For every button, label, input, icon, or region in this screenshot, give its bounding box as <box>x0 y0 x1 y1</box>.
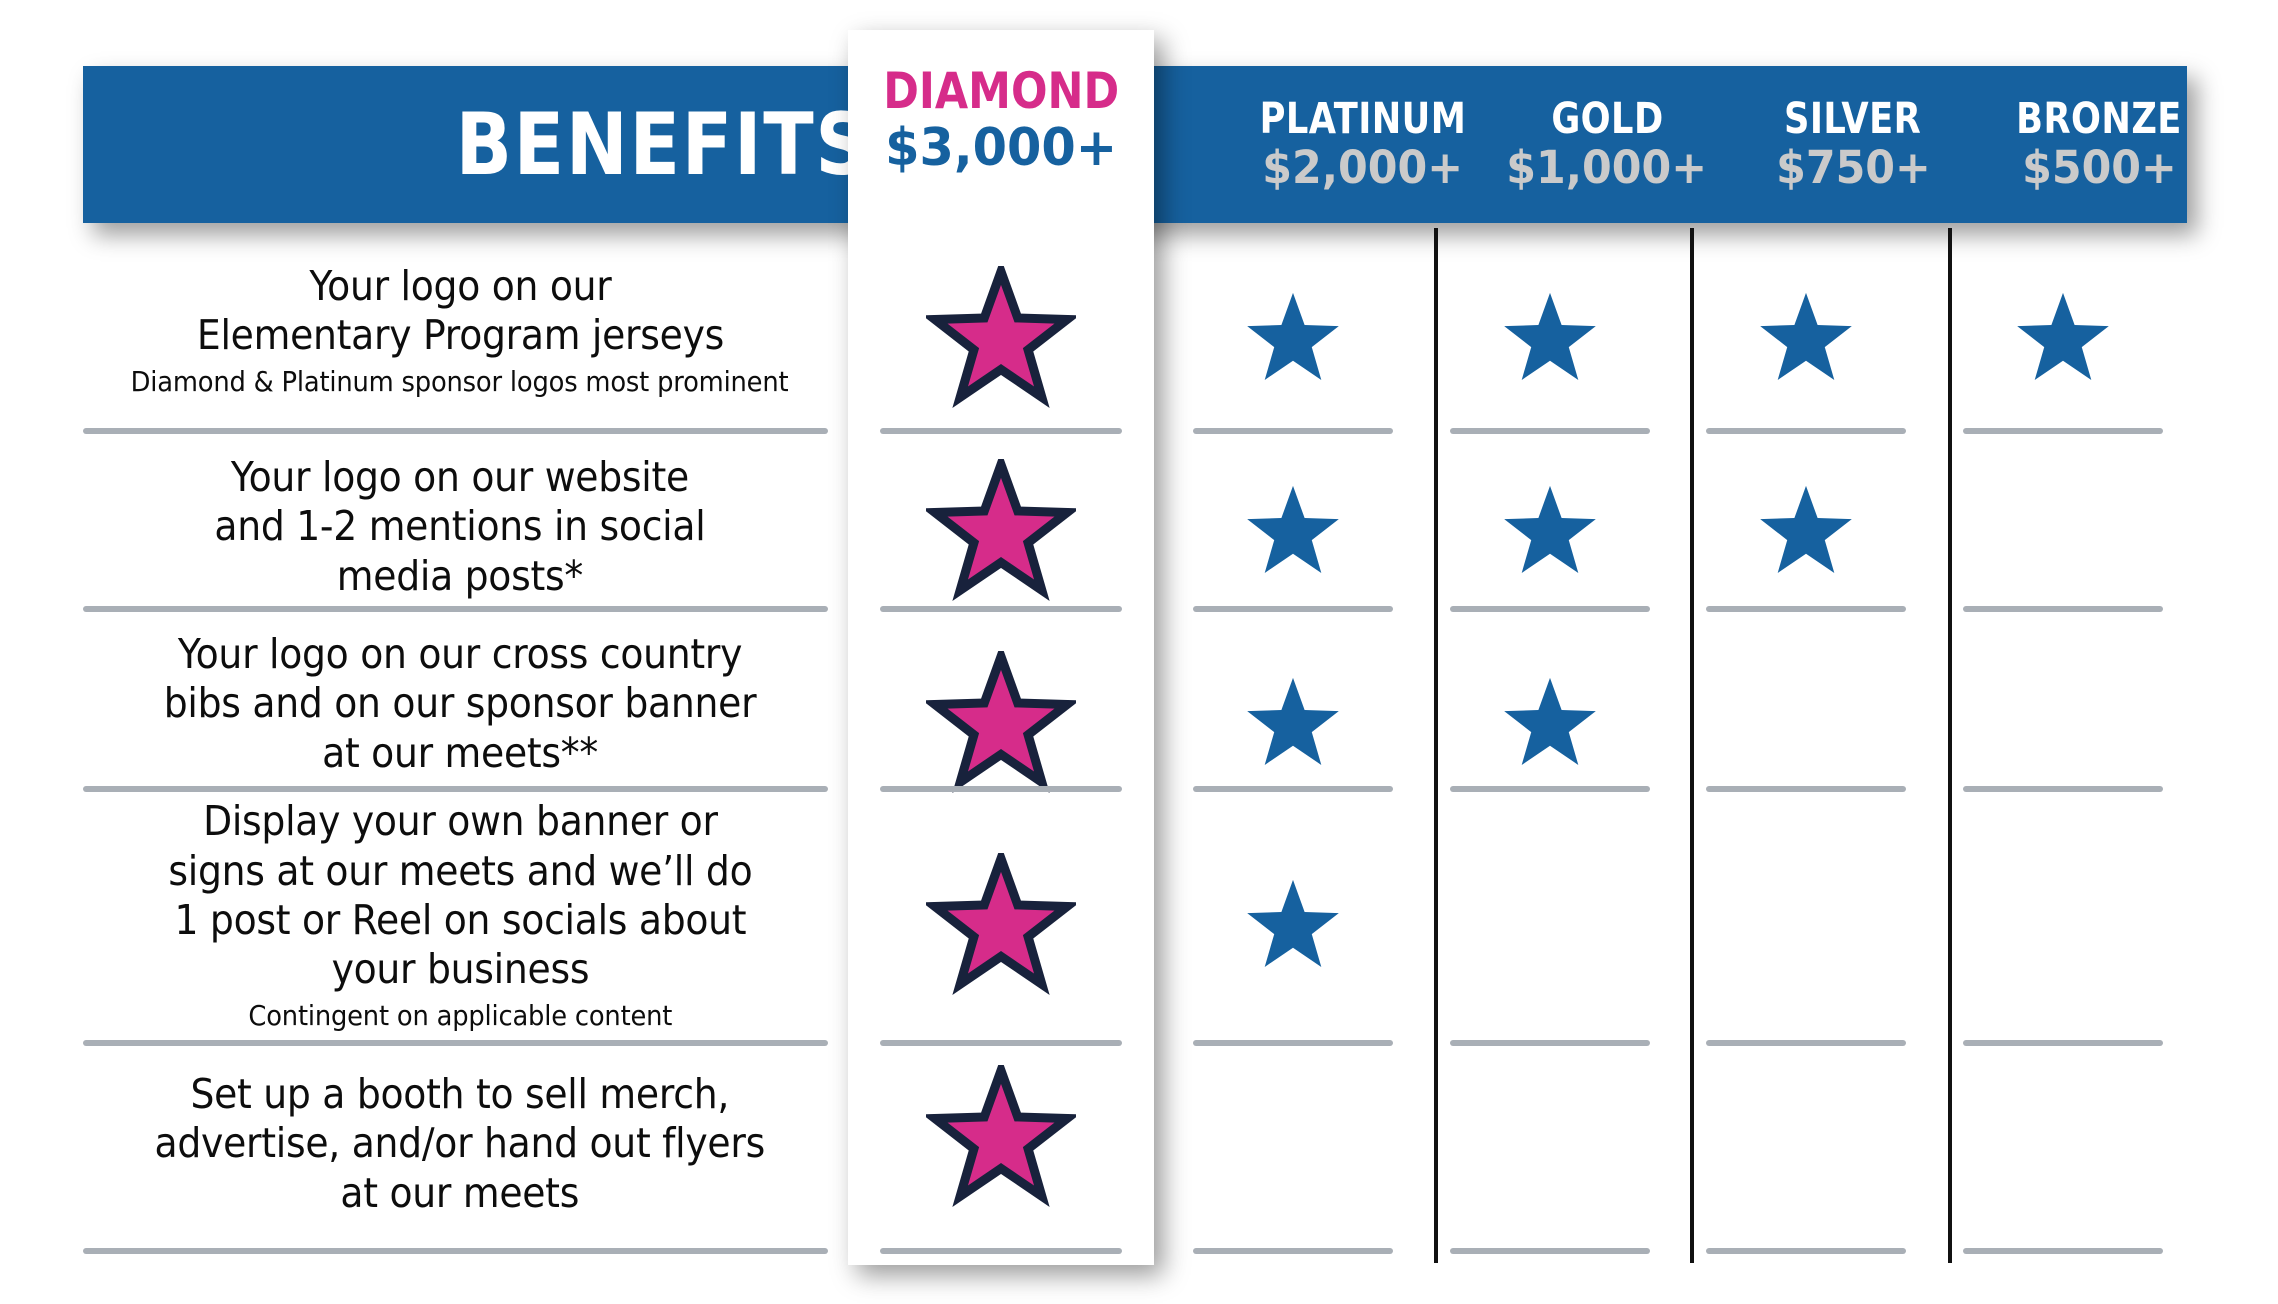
cell-divider <box>1706 1040 1906 1046</box>
row-divider <box>83 1248 828 1254</box>
column-separator-platinum-gold <box>1434 228 1438 1263</box>
cell-divider <box>1450 786 1650 792</box>
sponsorship-benefits-table: BENEFITS PLATINUM $2,000+ GOLD $1,000+ S… <box>0 0 2278 1304</box>
star-icon <box>1498 482 1602 591</box>
row-divider <box>83 606 828 612</box>
tier-price-silver: $750+ <box>1776 145 1931 191</box>
star-icon <box>1241 289 1345 398</box>
star-icon <box>1754 482 1858 591</box>
tier-price-bronze: $500+ <box>2022 145 2177 191</box>
star-icon <box>1241 674 1345 783</box>
benefit-text: Display your own banner or signs at our … <box>168 797 752 994</box>
star-icon-diamond <box>926 459 1076 614</box>
cell-divider <box>880 428 1122 434</box>
cell-divider <box>880 786 1122 792</box>
cell-divider <box>1706 1248 1906 1254</box>
benefit-row-booth: Set up a booth to sell merch, advertise,… <box>90 1060 830 1228</box>
benefit-row-website-social: Your logo on our website and 1-2 mention… <box>90 443 830 611</box>
star-icon <box>1241 876 1345 985</box>
star-icon <box>1498 289 1602 398</box>
star-icon-diamond <box>926 853 1076 1008</box>
benefit-note: Contingent on applicable content <box>248 999 672 1033</box>
tier-name-platinum: PLATINUM <box>1260 98 1467 142</box>
cell-divider <box>1963 1248 2163 1254</box>
cell-divider <box>1963 606 2163 612</box>
row-divider <box>83 1040 828 1046</box>
tier-header-gold: GOLD $1,000+ <box>1483 66 1731 223</box>
star-icon <box>1241 482 1345 591</box>
star-icon <box>1754 289 1858 398</box>
tier-header-diamond: DIAMOND $3,000+ <box>848 66 1154 174</box>
row-divider <box>83 786 828 792</box>
tier-name-silver: SILVER <box>1784 98 1921 142</box>
column-separator-gold-silver <box>1690 228 1694 1263</box>
star-icon-diamond <box>926 651 1076 806</box>
benefit-text: Your logo on our website and 1-2 mention… <box>214 453 705 601</box>
cell-divider <box>1963 786 2163 792</box>
cell-divider <box>880 1040 1122 1046</box>
tier-header-silver: SILVER $750+ <box>1731 66 1975 223</box>
benefit-text: Your logo on our cross country bibs and … <box>164 630 757 778</box>
tier-name-bronze: BRONZE <box>2016 98 2182 142</box>
column-separator-silver-bronze <box>1948 228 1952 1263</box>
tier-name-diamond: DIAMOND <box>883 66 1119 116</box>
tier-name-gold: GOLD <box>1551 98 1663 142</box>
star-icon-diamond <box>926 266 1076 421</box>
tier-header-platinum: PLATINUM $2,000+ <box>1243 66 1483 223</box>
benefit-text: Your logo on our Elementary Program jers… <box>196 262 723 360</box>
tier-price-platinum: $2,000+ <box>1263 145 1464 191</box>
tier-price-diamond: $3,000+ <box>885 122 1117 174</box>
cell-divider <box>1193 428 1393 434</box>
benefit-text: Set up a booth to sell merch, advertise,… <box>155 1070 765 1218</box>
tier-header-bronze: BRONZE $500+ <box>1975 66 2223 223</box>
cell-divider <box>1450 428 1650 434</box>
cell-divider <box>1706 428 1906 434</box>
tier-price-gold: $1,000+ <box>1507 145 1708 191</box>
cell-divider <box>880 606 1122 612</box>
benefit-row-own-banner-reel: Display your own banner or signs at our … <box>90 800 830 1030</box>
cell-divider <box>1706 606 1906 612</box>
star-icon <box>1498 674 1602 783</box>
benefit-row-jerseys: Your logo on our Elementary Program jers… <box>90 255 830 405</box>
cell-divider <box>1450 1248 1650 1254</box>
benefit-row-bibs-banner: Your logo on our cross country bibs and … <box>90 620 830 788</box>
star-icon <box>2011 289 2115 398</box>
cell-divider <box>1963 428 2163 434</box>
cell-divider <box>1450 606 1650 612</box>
cell-divider <box>1450 1040 1650 1046</box>
cell-divider <box>1193 1040 1393 1046</box>
cell-divider <box>1706 786 1906 792</box>
cell-divider <box>1193 1248 1393 1254</box>
star-icon-diamond <box>926 1065 1076 1220</box>
row-divider <box>83 428 828 434</box>
cell-divider <box>1193 786 1393 792</box>
benefit-note: Diamond & Platinum sponsor logos most pr… <box>131 365 789 399</box>
cell-divider <box>1193 606 1393 612</box>
cell-divider <box>1963 1040 2163 1046</box>
cell-divider <box>880 1248 1122 1254</box>
